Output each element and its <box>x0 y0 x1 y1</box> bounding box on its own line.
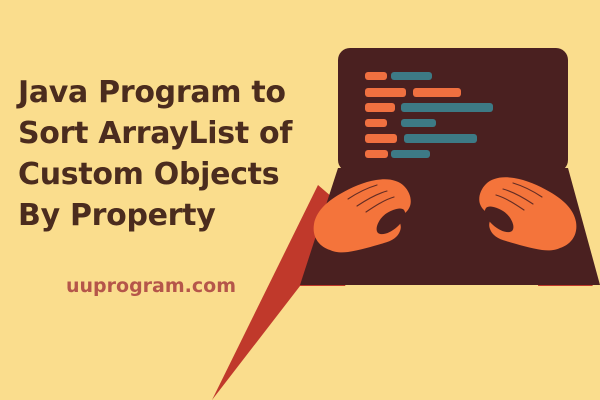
code-bar-teal <box>404 134 477 143</box>
title-line-1: Java Program to <box>18 72 338 113</box>
code-bar-teal <box>401 103 493 112</box>
code-bar-orange <box>365 150 388 158</box>
code-bar-orange <box>365 134 397 143</box>
title-line-4: By Property <box>18 195 338 236</box>
site-watermark: uuprogram.com <box>0 275 236 297</box>
code-bar-orange <box>365 72 387 80</box>
code-bar-orange <box>365 103 395 112</box>
page-title: Java Program to Sort ArrayList of Custom… <box>18 72 338 236</box>
title-line-3: Custom Objects <box>18 154 338 195</box>
code-bar-orange <box>365 119 387 127</box>
code-bar-teal <box>413 88 461 97</box>
code-bar-teal <box>391 150 430 158</box>
code-bar-teal <box>401 119 436 127</box>
poster-canvas: Java Program to Sort ArrayList of Custom… <box>0 0 600 400</box>
code-bar-orange <box>365 88 406 97</box>
title-line-2: Sort ArrayList of <box>18 113 338 154</box>
code-bar-teal <box>391 72 432 80</box>
